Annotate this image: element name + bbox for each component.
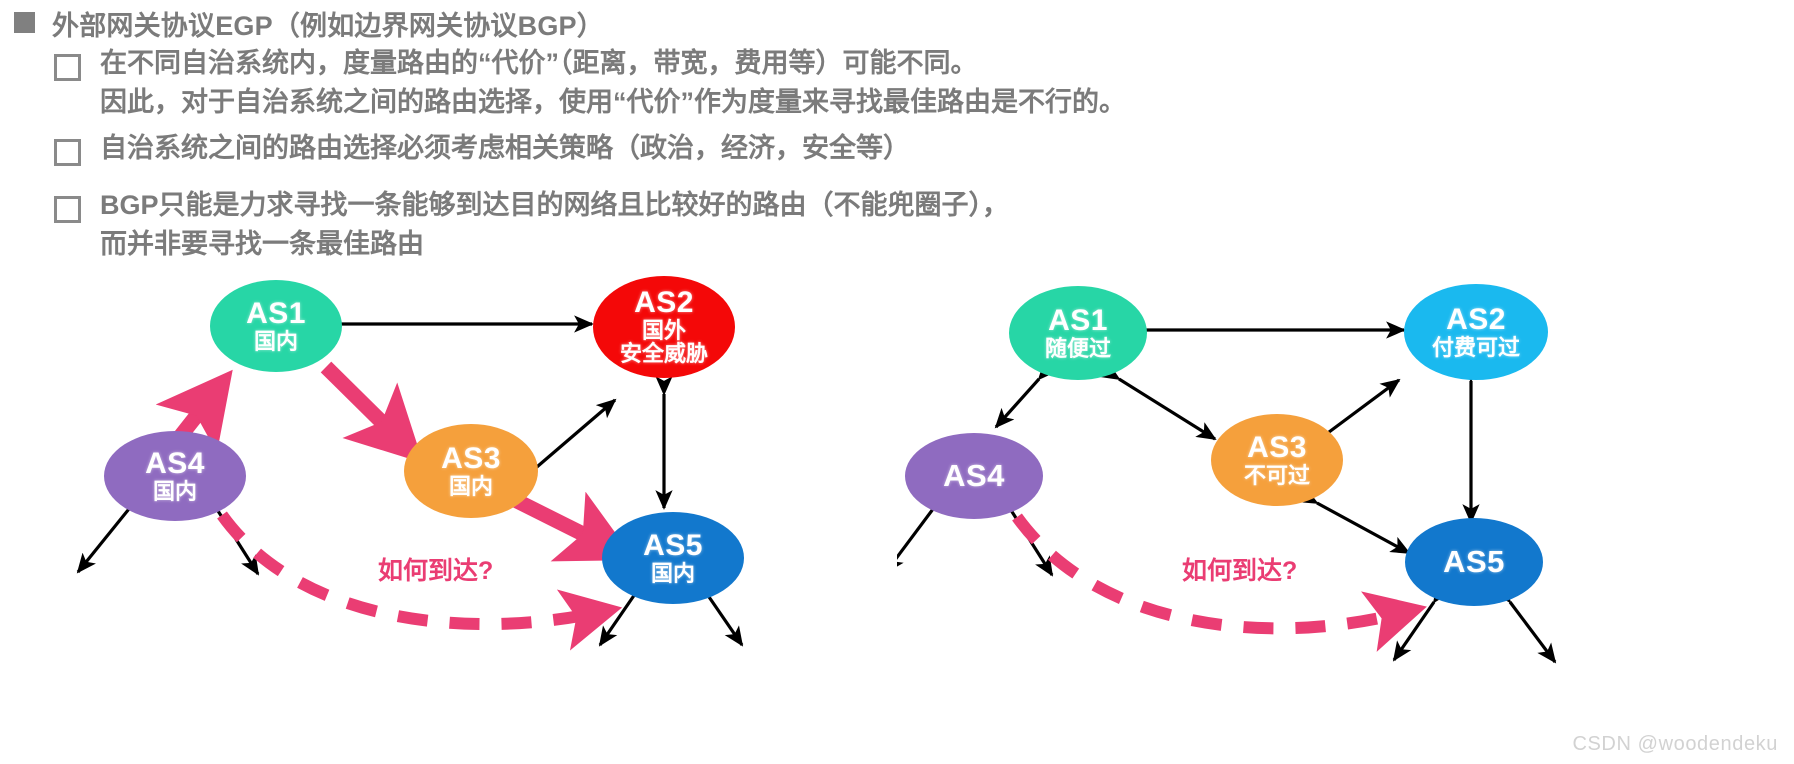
how-to-reach-label: 如何到达? [1182, 551, 1297, 587]
bullet-1-line-1: 在不同自治系统内，度量路由的“代价”（距离，带宽，费用等）可能不同。 [100, 44, 1126, 83]
node-as5[interactable]: AS5 国内 [602, 512, 744, 604]
bullet-2-text: 自治系统之间的路由选择必须考虑相关策略（政治，经济，安全等） [100, 129, 910, 168]
hollow-square-bullet-icon [54, 196, 81, 223]
page-title: 外部网关协议EGP（例如边界网关协议BGP） [52, 4, 604, 43]
bullet-item-3: BGP只能是力求寻找一条能够到达目的网络且比较好的路由（不能兜圈子）， 而并非要… [54, 186, 1009, 264]
bullet-item-2: 自治系统之间的路由选择必须考虑相关策略（政治，经济，安全等） [54, 129, 910, 168]
node-as5-sub: 国内 [651, 563, 695, 585]
how-to-reach-label: 如何到达? [378, 551, 493, 587]
hollow-square-bullet-icon [54, 139, 81, 166]
node-as3[interactable]: AS3 不可过 [1211, 414, 1343, 506]
heading-row: 外部网关协议EGP（例如边界网关协议BGP） [14, 4, 604, 43]
node-as5[interactable]: AS5 [1405, 518, 1543, 606]
node-as2-name: AS2 [634, 288, 694, 319]
diagram-right: AS1 随便过 AS2 付费可过 AS3 不可过 AS4 AS5 如何到达? [897, 272, 1794, 764]
node-as2-sub: 付费可过 [1432, 337, 1520, 359]
node-as2-sub: 国外 [642, 320, 686, 342]
node-as4[interactable]: AS4 国内 [104, 431, 246, 521]
node-as2[interactable]: AS2 付费可过 [1404, 284, 1548, 380]
node-as4[interactable]: AS4 [905, 433, 1043, 519]
diagrams-area: AS1 国内 AS2 国外 安全威胁 AS3 国内 AS4 国内 AS5 国内 … [0, 272, 1794, 764]
node-as1-sub: 随便过 [1045, 338, 1111, 360]
node-as3-sub: 国内 [449, 476, 493, 498]
bullet-2-line-1: 自治系统之间的路由选择必须考虑相关策略（政治，经济，安全等） [100, 129, 910, 168]
node-as1[interactable]: AS1 随便过 [1009, 286, 1147, 380]
bullet-item-1: 在不同自治系统内，度量路由的“代价”（距离，带宽，费用等）可能不同。 因此，对于… [54, 44, 1126, 122]
node-as4-name: AS4 [145, 449, 205, 480]
diagram-left-edges [0, 272, 897, 764]
node-as3-sub: 不可过 [1244, 465, 1310, 487]
node-as5-name: AS5 [1443, 546, 1505, 578]
node-as4-name: AS4 [943, 460, 1005, 492]
node-as3-name: AS3 [441, 444, 501, 475]
bullet-3-line-2: 而并非要寻找一条最佳路由 [100, 225, 1009, 264]
diagram-left: AS1 国内 AS2 国外 安全威胁 AS3 国内 AS4 国内 AS5 国内 … [0, 272, 897, 764]
node-as4-sub: 国内 [153, 481, 197, 503]
node-as1-sub: 国内 [254, 331, 298, 353]
node-as3-name: AS3 [1247, 433, 1307, 464]
bullet-1-line-2: 因此，对于自治系统之间的路由选择，使用“代价”作为度量来寻找最佳路由是不行的。 [100, 83, 1126, 122]
node-as1[interactable]: AS1 国内 [210, 280, 342, 372]
hollow-square-bullet-icon [54, 54, 81, 81]
bullet-1-text: 在不同自治系统内，度量路由的“代价”（距离，带宽，费用等）可能不同。 因此，对于… [100, 44, 1126, 122]
node-as2-sub2: 安全威胁 [620, 343, 708, 365]
csdn-watermark: CSDN @woodendeku [1572, 733, 1778, 756]
node-as5-name: AS5 [643, 531, 703, 562]
bullet-3-line-1: BGP只能是力求寻找一条能够到达目的网络且比较好的路由（不能兜圈子）， [100, 186, 1009, 225]
node-as2-name: AS2 [1446, 305, 1506, 336]
node-as2[interactable]: AS2 国外 安全威胁 [593, 276, 735, 378]
bullet-3-text: BGP只能是力求寻找一条能够到达目的网络且比较好的路由（不能兜圈子）， 而并非要… [100, 186, 1009, 264]
node-as1-name: AS1 [1048, 306, 1108, 337]
node-as3[interactable]: AS3 国内 [404, 424, 538, 518]
node-as1-name: AS1 [246, 299, 306, 330]
filled-square-bullet-icon [14, 12, 35, 33]
